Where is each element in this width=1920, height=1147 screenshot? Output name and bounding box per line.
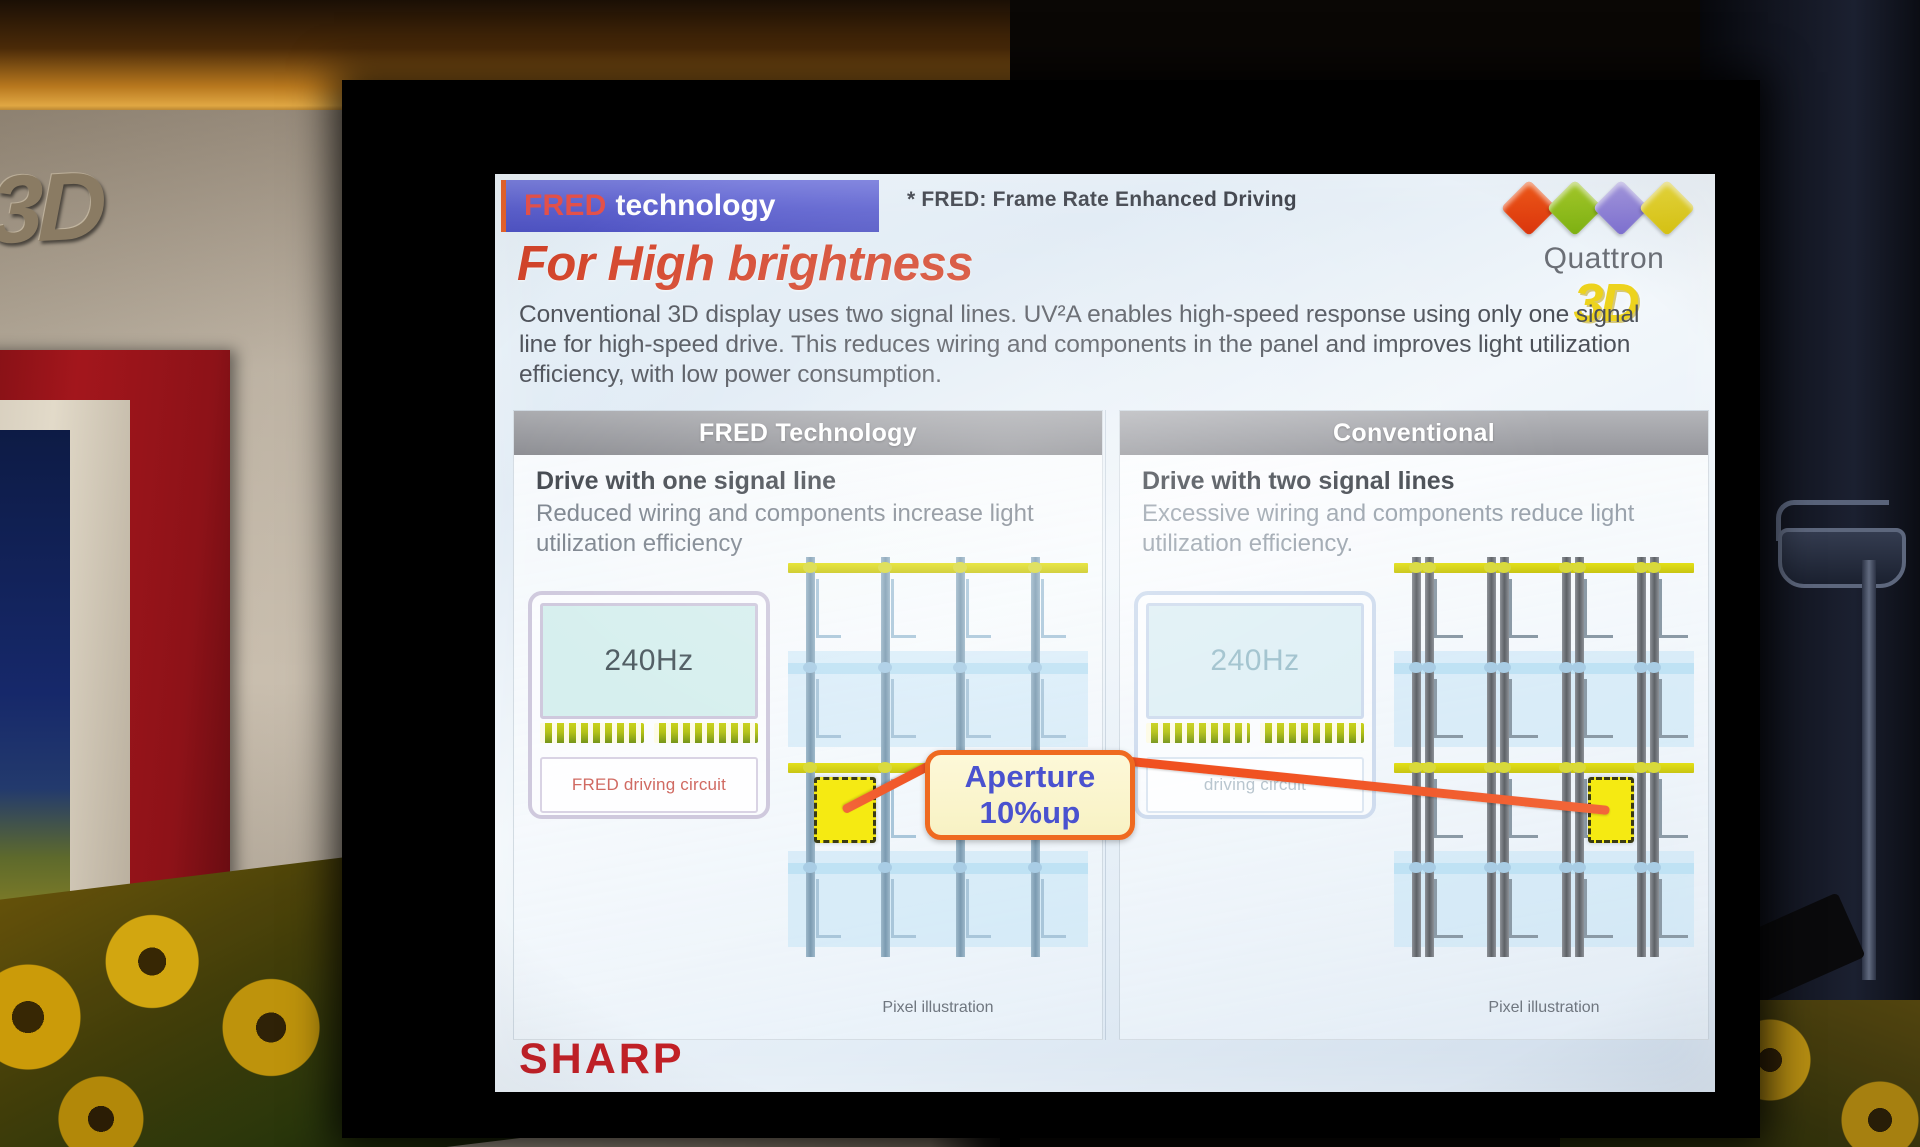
tft-wire — [1041, 579, 1066, 638]
pixel-node — [953, 862, 967, 873]
panel-header-left: FRED Technology — [514, 411, 1102, 455]
tft-wire — [1584, 579, 1613, 638]
panel-left-lead: Drive with one signal line — [536, 467, 836, 496]
refresh-rate-right: 240Hz — [1210, 644, 1299, 678]
pixel-grid-right: Pixel illustration — [1394, 557, 1694, 987]
pixel-node — [1634, 662, 1648, 673]
pixel-node — [1559, 862, 1573, 873]
tft-wire — [1041, 879, 1066, 938]
driver-ic — [1260, 723, 1364, 743]
tft-wire — [891, 679, 916, 738]
pixel-node — [1484, 562, 1498, 573]
diamond-yellow-icon — [1639, 180, 1696, 237]
tft-wire — [816, 579, 841, 638]
pixel-node — [1484, 762, 1498, 773]
panel-conventional: Conventional Drive with two signal lines… — [1119, 410, 1709, 1040]
display-panel: FRED technology * FRED: Frame Rate Enhan… — [366, 102, 1736, 1116]
device-screen-right: 240Hz — [1146, 603, 1364, 719]
pixel-node — [1028, 562, 1042, 573]
common-line — [788, 863, 1088, 874]
tft-wire — [1584, 879, 1613, 938]
pixel-node — [1647, 662, 1661, 673]
pixel-node — [1028, 662, 1042, 673]
sharp-logo: SHARP — [519, 1035, 685, 1084]
tft-wire — [891, 879, 916, 938]
pixel-node — [1634, 562, 1648, 573]
tft-wire — [1509, 779, 1538, 838]
tft-wire — [1434, 579, 1463, 638]
signal-line — [1412, 557, 1421, 957]
tft-wire — [1659, 579, 1688, 638]
tft-wire — [966, 679, 991, 738]
pixel-node — [1572, 762, 1586, 773]
pixel-node — [878, 562, 892, 573]
pixel-node — [1409, 662, 1423, 673]
device-screen-left: 240Hz — [540, 603, 758, 719]
tft-wire — [966, 579, 991, 638]
pixel-node — [953, 562, 967, 573]
panel-header-right: Conventional — [1120, 411, 1708, 455]
tft-wire — [1659, 879, 1688, 938]
signal-line — [1575, 557, 1584, 957]
pixel-node — [878, 762, 892, 773]
pixel-node — [803, 762, 817, 773]
tft-wire — [891, 579, 916, 638]
tft-wire — [1509, 679, 1538, 738]
pixel-node — [1422, 662, 1436, 673]
pixel-node — [953, 662, 967, 673]
pixel-node — [878, 862, 892, 873]
panel-left-sub: Reduced wiring and components increase l… — [536, 499, 1076, 559]
panel-right-lead: Drive with two signal lines — [1142, 467, 1455, 496]
tft-wire — [1434, 679, 1463, 738]
signal-line — [1562, 557, 1571, 957]
aperture-callout: Aperture 10%up — [925, 750, 1135, 840]
tft-wire — [816, 879, 841, 938]
pixel-node — [1634, 762, 1648, 773]
tft-wire — [1509, 579, 1538, 638]
pixel-node — [1484, 862, 1498, 873]
pixel-node — [803, 562, 817, 573]
pixel-node — [1422, 862, 1436, 873]
tft-wire — [966, 879, 991, 938]
slide-body-text: Conventional 3D display uses two signal … — [519, 300, 1679, 390]
tft-wire — [1584, 679, 1613, 738]
slide-title: For High brightness — [517, 236, 973, 292]
grid-caption-left: Pixel illustration — [788, 999, 1088, 1017]
device-illustration-left: 240Hz FRED driving circuit — [528, 591, 770, 819]
signal-line — [881, 557, 890, 957]
signal-line — [1425, 557, 1434, 957]
pixel-node — [1572, 862, 1586, 873]
pixel-node — [1409, 562, 1423, 573]
driver-ic — [654, 723, 758, 743]
column-divider — [1105, 410, 1106, 1040]
tft-wire — [1659, 779, 1688, 838]
presentation-slide: FRED technology * FRED: Frame Rate Enhan… — [495, 174, 1715, 1092]
driver-ics-right — [1146, 723, 1364, 743]
signal-line — [806, 557, 815, 957]
tft-wire — [1659, 679, 1688, 738]
grid-caption-right: Pixel illustration — [1394, 999, 1694, 1017]
panel-right-sub: Excessive wiring and components reduce l… — [1142, 499, 1682, 559]
tft-wire — [1509, 879, 1538, 938]
photo-scene: 3D FRED technology * FRED: Frame Rate En… — [0, 0, 1920, 1147]
lamp-pole — [1862, 560, 1876, 980]
slide-footnote: * FRED: Frame Rate Enhanced Driving — [907, 188, 1297, 212]
pixel-node — [1559, 562, 1573, 573]
common-line — [788, 663, 1088, 674]
pixel-node — [803, 662, 817, 673]
refresh-rate-left: 240Hz — [604, 644, 693, 678]
pixel-node — [1559, 662, 1573, 673]
driving-circuit-label-left: FRED driving circuit — [572, 775, 726, 795]
pixel-node — [1484, 662, 1498, 673]
pixel-node — [1572, 662, 1586, 673]
signal-line — [1637, 557, 1646, 957]
pixel-node — [803, 862, 817, 873]
pixel-node — [878, 662, 892, 673]
panel-header-right-label: Conventional — [1333, 419, 1495, 448]
pixel-node — [1422, 762, 1436, 773]
slide-header-tab: FRED technology — [501, 180, 879, 232]
panel-header-left-label: FRED Technology — [699, 419, 917, 448]
pixel-node — [1409, 762, 1423, 773]
pixel-node — [1572, 562, 1586, 573]
tft-wire — [816, 679, 841, 738]
pixel-node — [1634, 862, 1648, 873]
signal-line — [1487, 557, 1496, 957]
pixel-node — [1647, 762, 1661, 773]
callout-line1: Aperture — [965, 759, 1096, 795]
pixel-node — [1559, 762, 1573, 773]
pixel-node — [1497, 862, 1511, 873]
signal-line — [1650, 557, 1659, 957]
quattron-wordmark: Quattron — [1509, 242, 1699, 276]
pixel-node — [1422, 562, 1436, 573]
header-tab-technology: technology — [615, 189, 775, 223]
driver-ic — [1146, 723, 1250, 743]
pixel-node — [1647, 562, 1661, 573]
booth-3d-sign: 3D — [0, 143, 240, 261]
pixel-node — [1497, 562, 1511, 573]
panel-fred-technology: FRED Technology Drive with one signal li… — [513, 410, 1103, 1040]
tft-wire — [1434, 879, 1463, 938]
callout-line2: 10%up — [980, 795, 1081, 831]
driving-circuit-box-left: FRED driving circuit — [540, 757, 758, 813]
pixel-node — [1497, 762, 1511, 773]
lamp-head — [1778, 528, 1906, 588]
driver-ics-left — [540, 723, 758, 743]
pixel-node — [1497, 662, 1511, 673]
driver-ic — [540, 723, 644, 743]
signal-line — [1500, 557, 1509, 957]
pixel-node — [1647, 862, 1661, 873]
pixel-node — [1028, 862, 1042, 873]
gate-line — [788, 563, 1088, 573]
header-tab-fred: FRED — [524, 189, 606, 223]
pixel-node — [1409, 862, 1423, 873]
tft-wire — [1041, 679, 1066, 738]
display-bezel: FRED technology * FRED: Frame Rate Enhan… — [342, 80, 1760, 1138]
